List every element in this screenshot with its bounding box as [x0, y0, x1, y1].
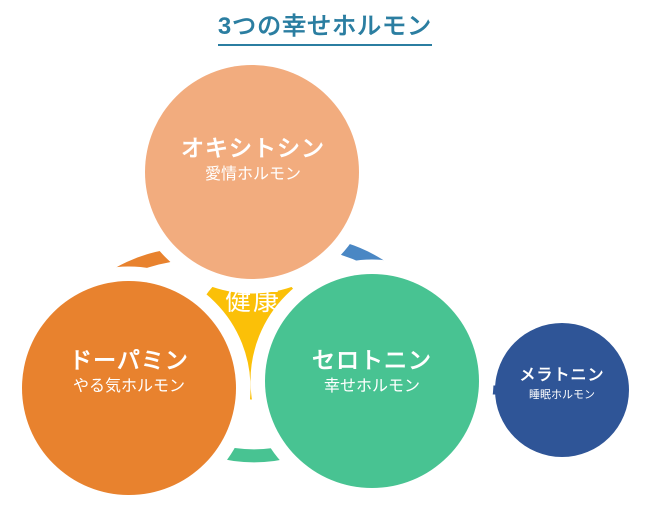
- circle-melatonin[interactable]: [495, 323, 629, 457]
- circle-serotonin[interactable]: [265, 274, 479, 488]
- diagram-canvas: 3つの幸せホルモン 健康 オキシトシン 愛情ホルモン ドーパミン: [0, 0, 650, 515]
- circle-dopamine[interactable]: [22, 281, 236, 495]
- circle-oxytocin[interactable]: [145, 65, 359, 279]
- hormone-venn-diagram: [0, 0, 650, 515]
